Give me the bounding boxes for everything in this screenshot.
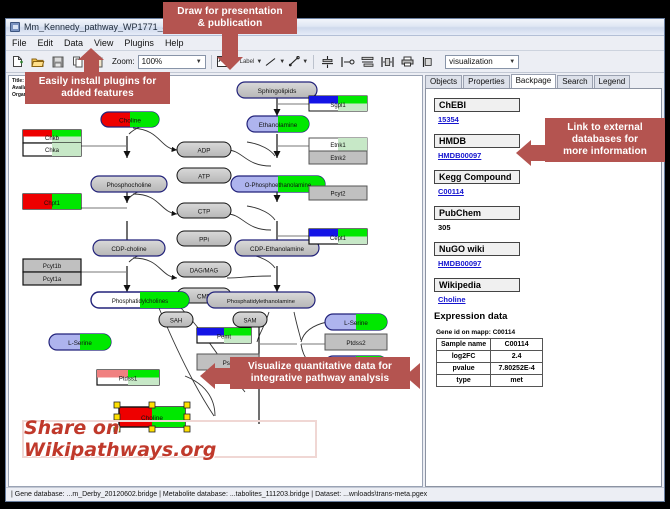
expr-label-pvalue: pvalue bbox=[437, 363, 491, 375]
zoom-combo[interactable]: 100% ▼ bbox=[138, 55, 206, 69]
chevron-down-icon: ▼ bbox=[279, 59, 285, 65]
callout-link-line3: more information bbox=[552, 146, 658, 158]
connector-tool[interactable]: ▼ bbox=[288, 56, 308, 67]
svg-text:CDP-Ethanolamine: CDP-Ethanolamine bbox=[250, 246, 304, 253]
callout-draw-line1: Draw for presentation bbox=[170, 6, 290, 18]
save-icon[interactable] bbox=[49, 53, 66, 70]
node-ptdss1[interactable]: Ptdss1 bbox=[97, 370, 159, 385]
status-bar: | Gene database: ...m_Derby_20120602.bri… bbox=[6, 487, 664, 501]
callout-share-box: Share on Wikipathways.org bbox=[22, 420, 317, 458]
svg-text:Pcyt1a: Pcyt1a bbox=[43, 277, 62, 283]
node-cdp-ethanolamine[interactable]: CDP-Ethanolamine bbox=[235, 240, 319, 256]
node-sah[interactable]: SAH bbox=[159, 312, 193, 327]
callout-link-line1: Link to external bbox=[552, 122, 658, 134]
table-row: log2FC 2.4 bbox=[437, 351, 543, 363]
section-heading-hmdb: HMDB bbox=[434, 134, 520, 148]
open-folder-icon[interactable] bbox=[29, 53, 46, 70]
section-heading-chebi: ChEBI bbox=[434, 98, 520, 112]
svg-text:PPi: PPi bbox=[199, 237, 209, 244]
section-heading-nugo: NuGO wiki bbox=[434, 242, 520, 256]
svg-text:ADP: ADP bbox=[198, 148, 211, 155]
section-heading-pubchem: PubChem bbox=[434, 206, 520, 220]
svg-text:Sphingolipids: Sphingolipids bbox=[258, 88, 297, 95]
svg-text:Chkb: Chkb bbox=[45, 136, 60, 142]
label-tool[interactable]: Label ▼ bbox=[240, 59, 263, 65]
svg-text:Pemt: Pemt bbox=[217, 335, 231, 341]
status-text: | Gene database: ...m_Derby_20120602.bri… bbox=[11, 491, 427, 498]
node-ppi[interactable]: PPi bbox=[177, 231, 231, 246]
visualization-combo[interactable]: visualization ▼ bbox=[445, 55, 519, 69]
table-row: type met bbox=[437, 375, 543, 387]
callout-visualize-line1: Visualize quantitative data for bbox=[237, 361, 403, 373]
callout-draw-arrow-head bbox=[217, 57, 243, 70]
title-bar: Mm_Kennedy_pathway_WP1771_45176.gpml bbox=[6, 19, 664, 36]
svg-text:L-Serine: L-Serine bbox=[344, 320, 368, 327]
line-icon bbox=[265, 57, 277, 67]
svg-text:Phosphocholine: Phosphocholine bbox=[107, 182, 152, 189]
tab-objects[interactable]: Objects bbox=[425, 75, 462, 88]
svg-text:Ethanolamine: Ethanolamine bbox=[259, 122, 298, 129]
gene-id-on-mapp: Gene id on mapp: C00114 bbox=[436, 329, 661, 336]
node-pcyt2[interactable]: Pcyt2 bbox=[309, 186, 367, 200]
menu-file[interactable]: File bbox=[11, 38, 28, 48]
callout-plugins-line2: added features bbox=[32, 88, 163, 100]
svg-text:SAH: SAH bbox=[170, 319, 182, 325]
node-ethanolamine[interactable]: Ethanolamine bbox=[247, 116, 309, 132]
node-choline-top[interactable]: Choline bbox=[101, 112, 159, 127]
node-chkb[interactable]: Chkb bbox=[23, 130, 81, 143]
node-phosphatidylcholines[interactable]: Phosphatidylcholines bbox=[91, 292, 189, 308]
expr-label-type: type bbox=[437, 375, 491, 387]
pubchem-value: 305 bbox=[438, 223, 661, 232]
svg-text:Cept1: Cept1 bbox=[330, 236, 347, 242]
visualization-value: visualization bbox=[449, 57, 493, 66]
svg-text:Phosphatidylcholines: Phosphatidylcholines bbox=[112, 299, 168, 305]
node-chka[interactable]: Chka bbox=[23, 143, 81, 156]
node-pcyt1b[interactable]: Pcyt1b bbox=[23, 259, 81, 272]
print-icon[interactable] bbox=[399, 53, 416, 70]
app-icon bbox=[10, 22, 20, 32]
node-etnk2[interactable]: Etnk2 bbox=[309, 151, 367, 164]
tab-properties[interactable]: Properties bbox=[463, 75, 509, 88]
callout-draw-arrow-stem bbox=[222, 34, 238, 58]
callout-plugins-arrow-head bbox=[78, 48, 104, 60]
node-cdp-choline[interactable]: CDP-choline bbox=[93, 240, 165, 256]
menu-help[interactable]: Help bbox=[164, 38, 185, 48]
menu-edit[interactable]: Edit bbox=[37, 38, 55, 48]
svg-text:L-Serine: L-Serine bbox=[68, 340, 92, 347]
svg-text:Ptdss1: Ptdss1 bbox=[119, 377, 138, 383]
svg-text:Etnk2: Etnk2 bbox=[330, 156, 346, 162]
node-l-serine-right[interactable]: L-Serine bbox=[325, 314, 387, 330]
callout-link-arrow-head bbox=[516, 140, 531, 166]
node-pcyt1a[interactable]: Pcyt1a bbox=[23, 272, 81, 285]
callout-plugins: Easily install plugins for added feature… bbox=[25, 72, 170, 104]
distribute-icon[interactable] bbox=[339, 53, 356, 70]
callout-link: Link to external databases for more info… bbox=[545, 118, 665, 162]
new-file-icon[interactable] bbox=[9, 53, 26, 70]
node-phosphatidylethanolamine[interactable]: Phosphatidylethanolamine bbox=[207, 292, 315, 308]
align-tool[interactable] bbox=[319, 53, 336, 70]
connector-icon bbox=[288, 56, 300, 67]
node-sphingolipids[interactable]: Sphingolipids bbox=[237, 82, 317, 98]
callout-link-line2: databases for bbox=[552, 134, 658, 146]
order-icon[interactable] bbox=[419, 53, 436, 70]
svg-text:Ptdss2: Ptdss2 bbox=[346, 340, 366, 347]
callout-share-text: Share on Wikipathways.org bbox=[24, 417, 315, 461]
callout-visualize-arrow-head-right bbox=[405, 363, 420, 389]
node-sgpl1[interactable]: Sgpl1 bbox=[309, 96, 367, 111]
svg-text:ATP: ATP bbox=[198, 174, 210, 181]
zoom-value: 100% bbox=[142, 57, 162, 66]
svg-text:Chka: Chka bbox=[45, 148, 60, 154]
svg-text:Phosphatidylethanolamine: Phosphatidylethanolamine bbox=[227, 299, 295, 305]
toolbar-separator bbox=[313, 55, 314, 69]
svg-text:Choline: Choline bbox=[119, 118, 141, 125]
kegg-link[interactable]: C00114 bbox=[438, 187, 661, 196]
callout-draw-line2: & publication bbox=[170, 18, 290, 30]
callout-visualize: Visualize quantitative data for integrat… bbox=[230, 357, 410, 389]
svg-text:O-Phosphoethanolamine: O-Phosphoethanolamine bbox=[245, 183, 312, 189]
node-phosphocholine[interactable]: Phosphocholine bbox=[91, 176, 167, 192]
node-dagmag[interactable]: DAG/MAG bbox=[177, 262, 231, 277]
chevron-down-icon: ▼ bbox=[302, 59, 308, 65]
menu-view[interactable]: View bbox=[93, 38, 114, 48]
panel-tabs: Objects Properties Backpage Search Legen… bbox=[425, 75, 662, 89]
node-ctp[interactable]: CTP bbox=[177, 203, 231, 218]
svg-text:Etnk1: Etnk1 bbox=[330, 143, 346, 149]
svg-text:CTP: CTP bbox=[198, 209, 211, 216]
expr-label-log2fc: log2FC bbox=[437, 351, 491, 363]
svg-text:Pcyt1b: Pcyt1b bbox=[43, 264, 62, 270]
svg-text:Pcyt2: Pcyt2 bbox=[330, 192, 346, 198]
svg-text:Chpt1: Chpt1 bbox=[44, 201, 61, 207]
section-heading-kegg: Kegg Compound bbox=[434, 170, 520, 184]
toolbar-separator bbox=[211, 55, 212, 69]
callout-plugins-line1: Easily install plugins for bbox=[32, 76, 163, 88]
menu-data[interactable]: Data bbox=[63, 38, 84, 48]
stack-icon[interactable] bbox=[359, 53, 376, 70]
expr-label-sample-name: Sample name bbox=[437, 339, 491, 351]
node-sam[interactable]: SAM bbox=[233, 312, 267, 327]
zoom-label: Zoom: bbox=[112, 57, 135, 66]
expr-value-pvalue: 7.80252E-4 bbox=[491, 363, 543, 375]
node-ptdss2[interactable]: Ptdss2 bbox=[325, 334, 387, 350]
nugo-link[interactable]: HMDB00097 bbox=[438, 259, 661, 268]
table-row: Sample name C00114 bbox=[437, 339, 543, 351]
expression-data-title: Expression data bbox=[434, 311, 661, 322]
line-tool[interactable]: ▼ bbox=[265, 57, 285, 67]
expr-value-sample-name: C00114 bbox=[491, 339, 543, 351]
table-row: pvalue 7.80252E-4 bbox=[437, 363, 543, 375]
expr-value-log2fc: 2.4 bbox=[491, 351, 543, 363]
chevron-down-icon: ▼ bbox=[256, 59, 262, 65]
spacing-icon[interactable] bbox=[379, 53, 396, 70]
expression-table: Sample name C00114 log2FC 2.4 pvalue 7.8… bbox=[436, 338, 543, 387]
wikipedia-link[interactable]: Choline bbox=[438, 295, 661, 304]
callout-visualize-line2: integrative pathway analysis bbox=[237, 373, 403, 385]
menu-bar: File Edit Data View Plugins Help bbox=[6, 36, 664, 51]
tool-bar: Zoom: 100% ▼ AN ▼ Label ▼ ▼ ▼ bbox=[6, 51, 664, 73]
svg-text:Sgpl1: Sgpl1 bbox=[330, 103, 346, 109]
svg-text:DAG/MAG: DAG/MAG bbox=[190, 269, 219, 275]
node-cept1[interactable]: Cept1 bbox=[309, 229, 367, 244]
menu-plugins[interactable]: Plugins bbox=[123, 38, 155, 48]
node-atp[interactable]: ATP bbox=[177, 168, 231, 183]
chevron-down-icon: ▼ bbox=[509, 59, 515, 65]
tab-legend[interactable]: Legend bbox=[594, 75, 631, 88]
tab-search[interactable]: Search bbox=[557, 75, 592, 88]
tab-backpage[interactable]: Backpage bbox=[511, 74, 557, 88]
chevron-down-icon: ▼ bbox=[196, 59, 202, 65]
node-l-serine-left[interactable]: L-Serine bbox=[49, 334, 111, 350]
node-chpt1[interactable]: Chpt1 bbox=[23, 194, 81, 209]
callout-draw: Draw for presentation & publication bbox=[163, 2, 297, 34]
callout-visualize-arrow-head bbox=[200, 363, 215, 389]
node-adp[interactable]: ADP bbox=[177, 142, 231, 157]
section-heading-wikipedia: Wikipedia bbox=[434, 278, 520, 292]
svg-text:CDP-choline: CDP-choline bbox=[111, 246, 147, 253]
node-pemt[interactable]: Pemt bbox=[197, 328, 251, 343]
expr-value-type: met bbox=[491, 375, 543, 387]
svg-text:SAM: SAM bbox=[243, 319, 256, 325]
node-etnk1[interactable]: Etnk1 bbox=[309, 138, 367, 151]
